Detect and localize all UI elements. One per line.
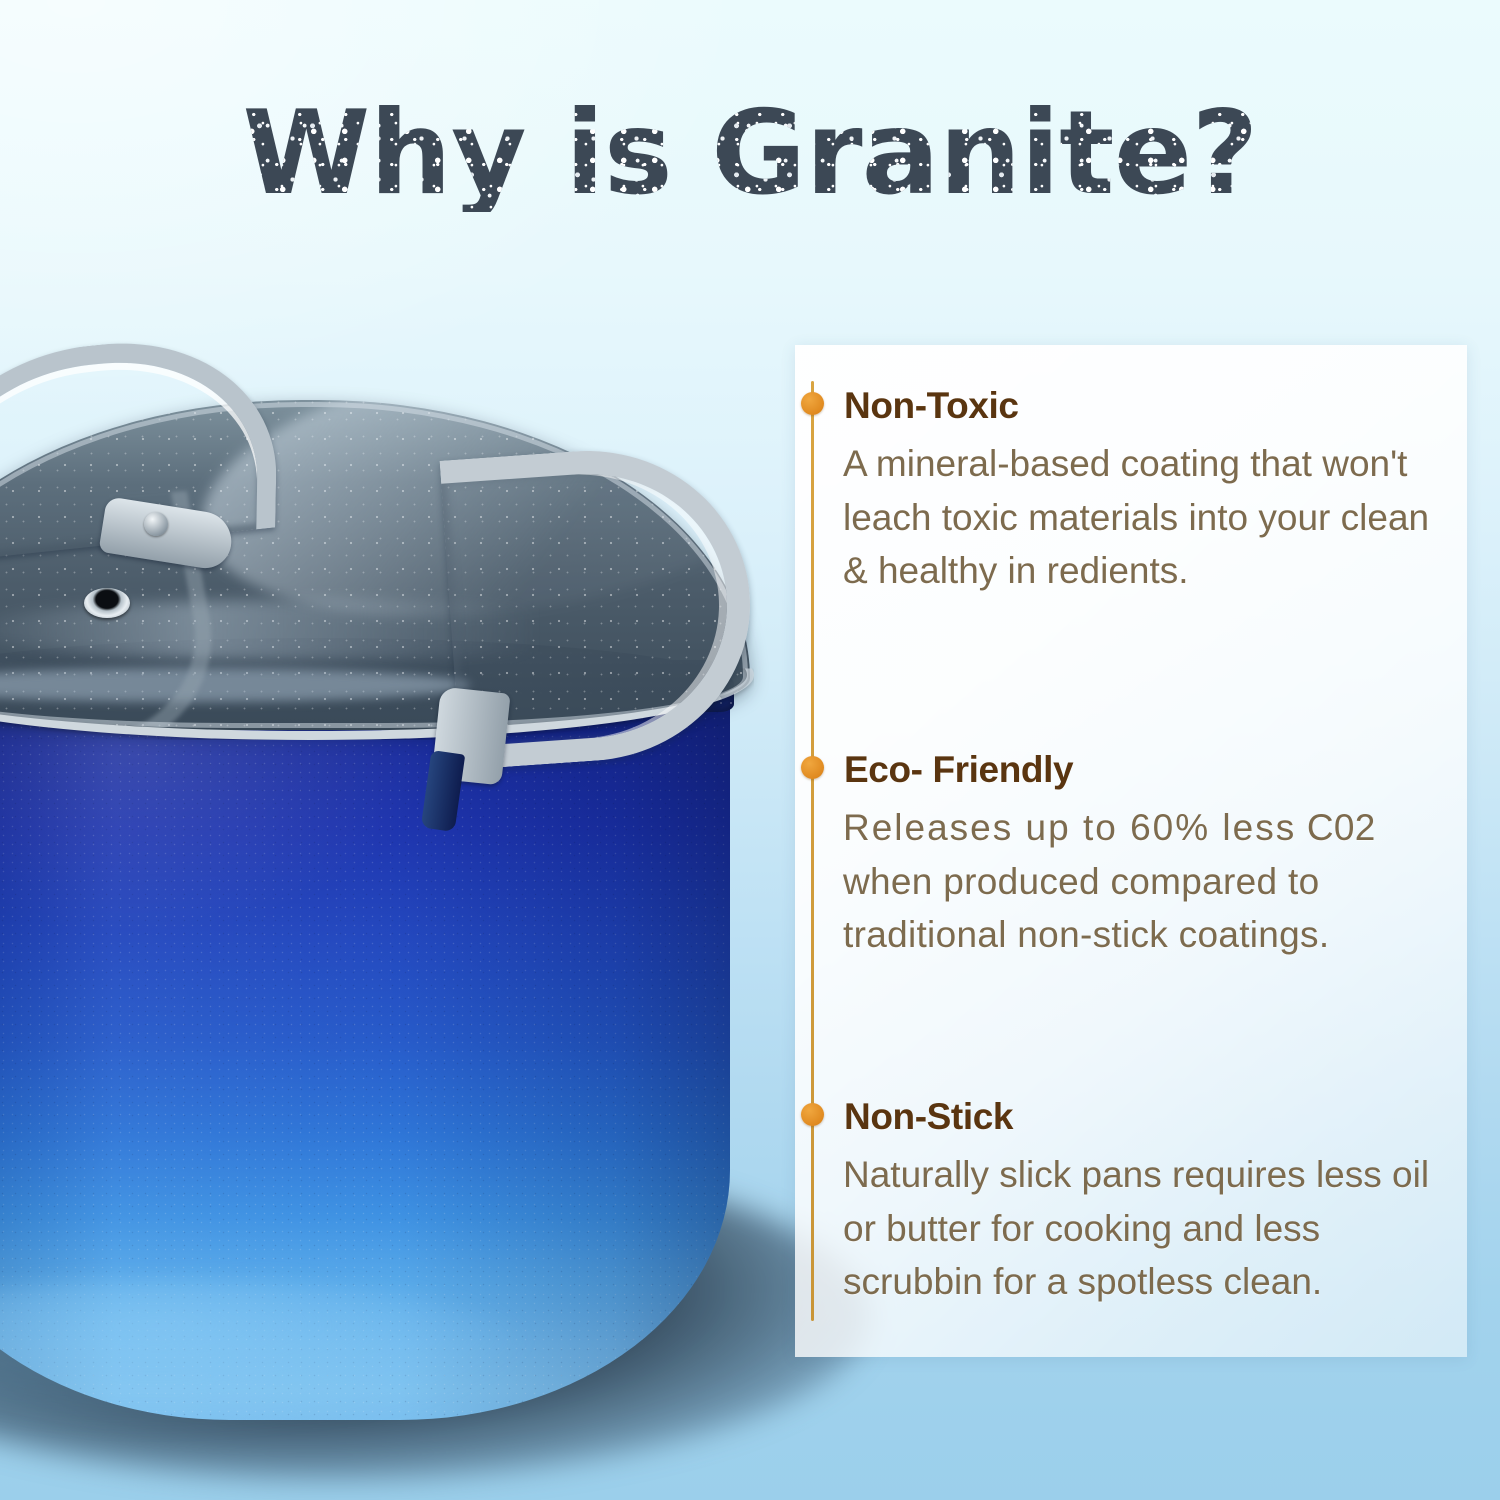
feature-heading: Non-Stick <box>844 1096 1013 1138</box>
feature-body: Naturally slick pans requires less oil o… <box>843 1148 1447 1309</box>
infographic-canvas: Why is Granite? <box>0 0 1500 1500</box>
feature-body: Releases up to 60% less C02 when produce… <box>843 801 1447 962</box>
lid-handle-rivet <box>144 512 168 536</box>
feature-body: A mineral-based coating that won't leach… <box>843 437 1447 598</box>
page-title: Why is Granite? <box>0 96 1500 212</box>
steam-vent-hole <box>84 588 130 618</box>
features-panel: Non-Toxic A mineral-based coating that w… <box>795 345 1467 1357</box>
bullet-dot-icon <box>801 392 824 415</box>
feature-heading: Eco- Friendly <box>844 749 1073 791</box>
feature-heading: Non-Toxic <box>844 385 1019 427</box>
bullet-dot-icon <box>801 1103 824 1126</box>
feature-list: Non-Toxic A mineral-based coating that w… <box>795 345 1467 1357</box>
bullet-dot-icon <box>801 756 824 779</box>
product-image <box>0 360 770 1420</box>
feature-body-lead: Releases up to 60% less <box>843 807 1296 848</box>
